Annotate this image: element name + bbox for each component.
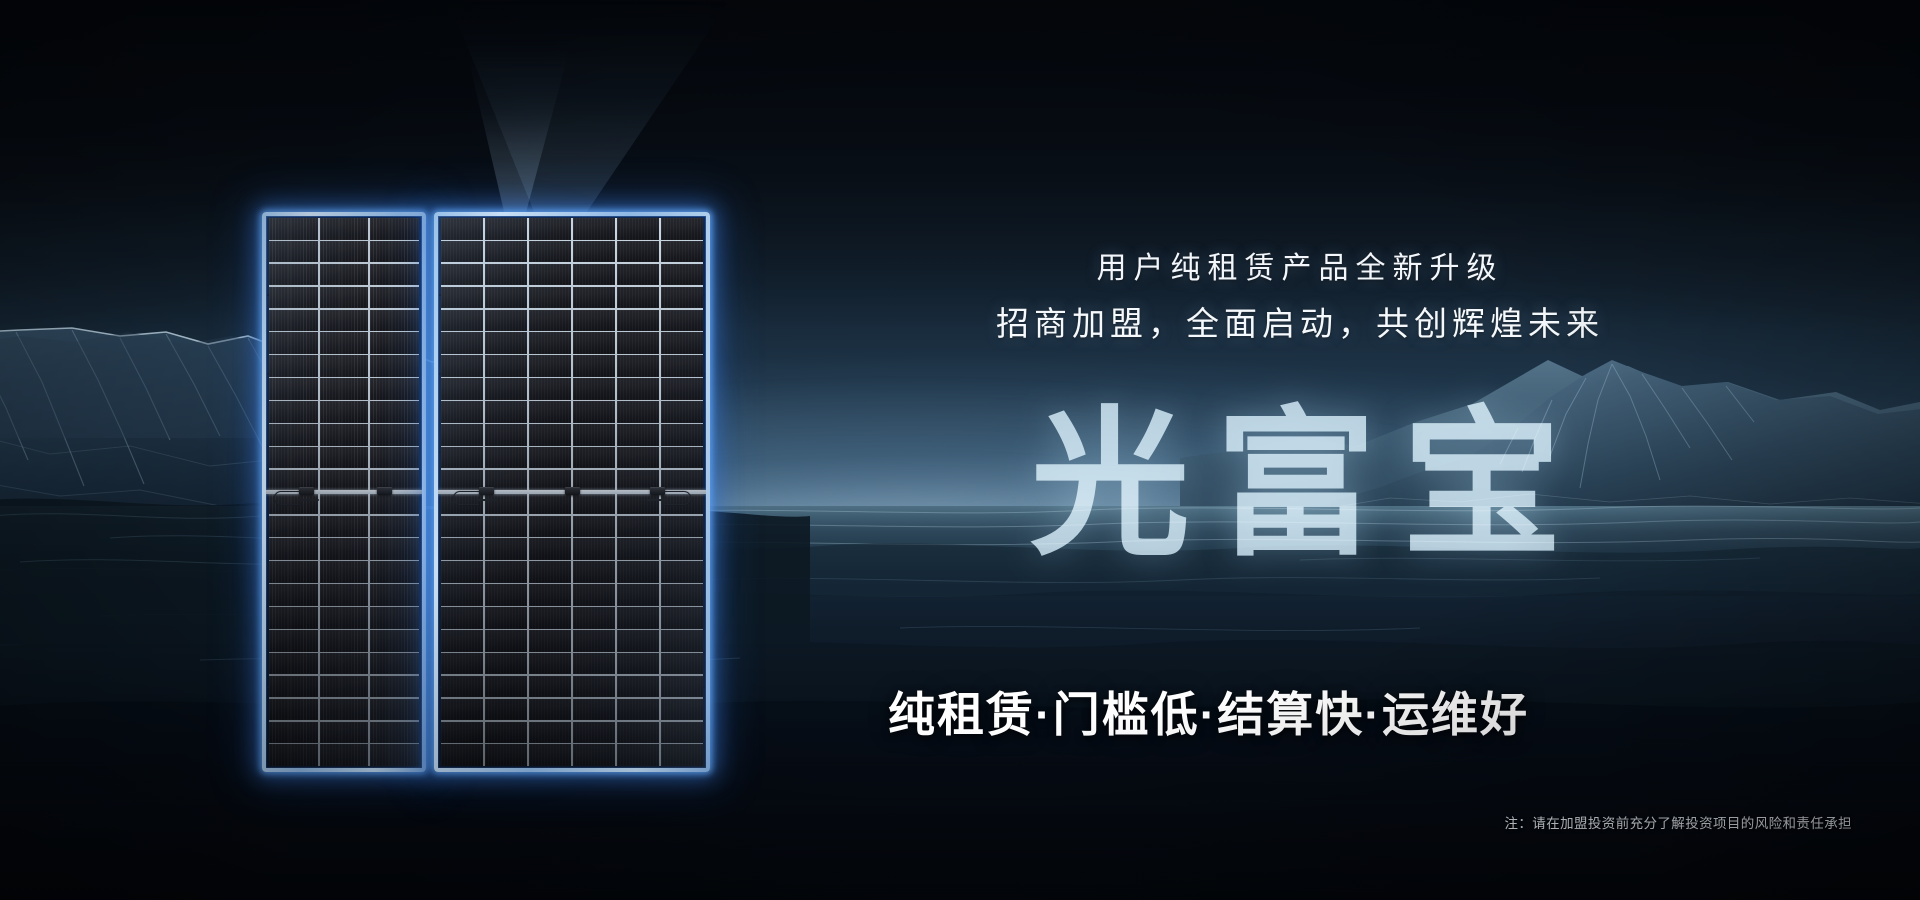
pv-cell — [269, 699, 318, 721]
pv-cell — [441, 355, 483, 377]
pv-cell — [269, 607, 318, 629]
cell-row — [441, 332, 703, 354]
pv-cell — [529, 355, 571, 377]
pv-cell — [320, 607, 369, 629]
pv-cell — [269, 401, 318, 423]
pv-cell — [485, 332, 527, 354]
pv-cell — [617, 722, 659, 744]
pv-cell — [617, 424, 659, 446]
pv-cell — [617, 653, 659, 675]
frame-screw — [419, 530, 421, 532]
pv-cell — [320, 561, 369, 583]
cell-row — [441, 378, 703, 400]
pv-cell — [529, 744, 571, 766]
cell-row — [441, 653, 703, 675]
panel-cable — [274, 491, 300, 505]
pv-cell — [441, 699, 483, 721]
pv-cell — [485, 310, 527, 332]
cell-row — [269, 538, 419, 560]
headline-line-2: 招商加盟，全面启动，共创辉煌未来 — [940, 306, 1660, 342]
pv-cell — [573, 676, 615, 698]
pv-cell — [617, 378, 659, 400]
pv-cell — [370, 401, 419, 423]
cell-row — [269, 607, 419, 629]
pv-cell — [617, 355, 659, 377]
pv-cell — [617, 447, 659, 469]
pv-cell — [617, 561, 659, 583]
pv-cell — [573, 310, 615, 332]
frame-screw — [419, 294, 421, 296]
frame-screw — [419, 686, 421, 688]
pv-cell — [370, 516, 419, 538]
pv-cell — [370, 355, 419, 377]
pv-cell — [485, 401, 527, 423]
pv-cell — [573, 653, 615, 675]
solar-module-right[interactable] — [434, 212, 710, 772]
pv-cell — [661, 401, 703, 423]
cell-row — [269, 264, 419, 286]
pv-cell — [529, 310, 571, 332]
pv-cell — [485, 287, 527, 309]
pv-cell — [617, 241, 659, 263]
cell-row — [269, 561, 419, 583]
pv-cell — [573, 538, 615, 560]
pv-cell — [529, 493, 571, 515]
cell-row — [269, 516, 419, 538]
pv-cell — [617, 310, 659, 332]
cell-row — [441, 516, 703, 538]
pv-cell — [370, 424, 419, 446]
pv-cell — [529, 287, 571, 309]
pv-cell — [485, 630, 527, 652]
pv-cell — [269, 355, 318, 377]
frame-screw — [703, 451, 705, 453]
pv-cell — [617, 287, 659, 309]
pv-cell — [320, 241, 369, 263]
pv-cell — [529, 447, 571, 469]
junction-box — [565, 487, 580, 495]
pv-cell — [485, 516, 527, 538]
pv-cell — [573, 355, 615, 377]
pv-cell — [320, 264, 369, 286]
pv-cell — [485, 264, 527, 286]
cell-row — [441, 676, 703, 698]
pv-cell — [617, 744, 659, 766]
pv-cell — [485, 699, 527, 721]
pv-cell — [370, 584, 419, 606]
pv-cell — [661, 241, 703, 263]
pv-cell — [529, 218, 571, 240]
cell-row — [269, 241, 419, 263]
cell-row — [441, 584, 703, 606]
pv-cell — [573, 493, 615, 515]
pv-cell — [320, 424, 369, 446]
pv-cell — [441, 584, 483, 606]
pv-cell — [441, 744, 483, 766]
pv-cell — [441, 447, 483, 469]
pv-cell — [441, 470, 483, 492]
solar-panel-assembly[interactable] — [262, 206, 710, 778]
pv-cell — [573, 287, 615, 309]
pv-cell — [529, 424, 571, 446]
pv-cell — [573, 630, 615, 652]
cell-row — [441, 401, 703, 423]
cell-row — [269, 653, 419, 675]
pv-cell — [370, 264, 419, 286]
pv-cell — [485, 355, 527, 377]
pv-cell — [617, 630, 659, 652]
frame-screw — [703, 373, 705, 375]
frame-screw — [419, 373, 421, 375]
pv-cell — [320, 699, 369, 721]
pv-cell — [617, 218, 659, 240]
frame-screw — [703, 608, 705, 610]
pv-cell — [485, 722, 527, 744]
pv-cell — [485, 493, 527, 515]
pv-cell — [661, 561, 703, 583]
pv-cell — [320, 493, 369, 515]
pv-cell — [617, 493, 659, 515]
pv-cell — [441, 607, 483, 629]
cell-row — [441, 699, 703, 721]
pv-cell — [485, 241, 527, 263]
pv-cell — [617, 516, 659, 538]
pv-cell — [320, 310, 369, 332]
pv-cell — [661, 630, 703, 652]
pv-cell — [529, 699, 571, 721]
pv-cell — [661, 287, 703, 309]
pv-cell — [441, 538, 483, 560]
cell-row — [269, 401, 419, 423]
pv-cell — [441, 310, 483, 332]
panel-cable-lead — [297, 499, 319, 501]
frame-screw — [703, 294, 705, 296]
pv-cell — [441, 264, 483, 286]
cell-row — [269, 424, 419, 446]
pv-cell — [320, 470, 369, 492]
cell-row — [269, 744, 419, 766]
pv-cell — [370, 630, 419, 652]
cell-row — [269, 447, 419, 469]
pv-cell — [529, 516, 571, 538]
cell-row — [441, 722, 703, 744]
cell-row — [269, 287, 419, 309]
frame-screw — [439, 530, 441, 532]
pv-cell — [617, 401, 659, 423]
pv-cell — [441, 287, 483, 309]
pv-cell — [370, 653, 419, 675]
pv-cell — [269, 378, 318, 400]
pv-cell — [320, 722, 369, 744]
pv-cell — [441, 653, 483, 675]
pv-cell — [320, 401, 369, 423]
pv-cell — [441, 561, 483, 583]
pv-cell — [441, 332, 483, 354]
pv-cell — [485, 676, 527, 698]
pv-cell — [485, 607, 527, 629]
frame-screw — [267, 373, 269, 375]
pv-cell — [573, 332, 615, 354]
pv-cell — [661, 447, 703, 469]
disclaimer-note: 注：请在加盟投资前充分了解投资项目的风险和责任承担 — [1505, 812, 1853, 832]
headline-line-1: 用户纯租赁产品全新升级 — [940, 252, 1660, 285]
junction-box — [377, 487, 392, 495]
pv-cell — [370, 722, 419, 744]
pv-cell — [573, 241, 615, 263]
pv-cell — [661, 744, 703, 766]
pv-cell — [617, 332, 659, 354]
pv-cell — [529, 630, 571, 652]
junction-box — [650, 487, 665, 495]
pv-cell — [269, 516, 318, 538]
pv-cell — [320, 447, 369, 469]
tagline: 纯租赁·门槛低·结算快·运维好 — [888, 676, 1529, 745]
pv-cell — [573, 561, 615, 583]
brand-name: 光富宝 — [1030, 405, 1588, 565]
cell-row — [269, 218, 419, 240]
headline-block: 用户纯租赁产品全新升级 招商加盟，全面启动，共创辉煌未来 — [940, 252, 1660, 342]
pv-cell — [485, 561, 527, 583]
pv-cell — [485, 378, 527, 400]
cell-row — [441, 630, 703, 652]
pv-cell — [485, 653, 527, 675]
pv-cell — [529, 561, 571, 583]
pv-cell — [485, 744, 527, 766]
pv-cell — [661, 470, 703, 492]
pv-cell — [441, 378, 483, 400]
pv-cell — [370, 561, 419, 583]
pv-cell — [661, 699, 703, 721]
pv-cell — [370, 493, 419, 515]
pv-cell — [529, 401, 571, 423]
cell-row — [441, 561, 703, 583]
pv-cell — [529, 264, 571, 286]
pv-cell — [661, 355, 703, 377]
pv-cell — [320, 630, 369, 652]
pv-cell — [269, 538, 318, 560]
cell-row — [269, 470, 419, 492]
pv-cell — [370, 310, 419, 332]
pv-cell — [617, 584, 659, 606]
pv-cell — [573, 264, 615, 286]
pv-cell — [370, 676, 419, 698]
pv-cell — [529, 538, 571, 560]
pv-cell — [269, 218, 318, 240]
pv-cell — [661, 538, 703, 560]
hero-banner: 用户纯租赁产品全新升级 招商加盟，全面启动，共创辉煌未来 光富宝 纯租赁·门槛低… — [0, 0, 1920, 900]
pv-cell — [573, 516, 615, 538]
pv-cell — [441, 516, 483, 538]
pv-cell — [661, 676, 703, 698]
pv-cell — [370, 607, 419, 629]
pv-cell — [661, 264, 703, 286]
pv-cell — [269, 744, 318, 766]
pv-cell — [529, 378, 571, 400]
pv-cell — [529, 722, 571, 744]
pv-cell — [269, 447, 318, 469]
frame-screw — [439, 608, 441, 610]
pv-cell — [529, 653, 571, 675]
frame-screw — [703, 686, 705, 688]
pv-cell — [529, 607, 571, 629]
pv-cell — [441, 424, 483, 446]
pv-cell — [485, 447, 527, 469]
pv-cell — [370, 241, 419, 263]
pv-cell — [269, 287, 318, 309]
frame-screw — [419, 451, 421, 453]
pv-cell — [485, 538, 527, 560]
pv-cell — [661, 310, 703, 332]
cell-row — [441, 744, 703, 766]
pv-cell — [573, 424, 615, 446]
pv-cell — [617, 538, 659, 560]
pv-cell — [573, 447, 615, 469]
pv-cell — [661, 424, 703, 446]
pv-cell — [320, 287, 369, 309]
panel-cable — [665, 491, 691, 505]
pv-cell — [269, 561, 318, 583]
cell-row — [269, 630, 419, 652]
pv-cell — [269, 584, 318, 606]
pv-cell — [661, 653, 703, 675]
pv-cell — [320, 378, 369, 400]
pv-cell — [370, 378, 419, 400]
cell-row — [269, 722, 419, 744]
pv-cell — [370, 699, 419, 721]
pv-cell — [269, 653, 318, 675]
pv-cell — [573, 218, 615, 240]
pv-cell — [573, 722, 615, 744]
pv-cell — [617, 699, 659, 721]
pv-cell — [617, 607, 659, 629]
cell-row — [441, 607, 703, 629]
panel-cable-lead — [476, 499, 498, 501]
cell-row — [441, 493, 703, 515]
cell-row — [269, 332, 419, 354]
pv-cell — [320, 744, 369, 766]
pv-cell — [370, 218, 419, 240]
frame-screw — [703, 530, 705, 532]
pv-cell — [370, 287, 419, 309]
pv-cell — [320, 218, 369, 240]
cell-row — [269, 355, 419, 377]
pv-cell — [529, 241, 571, 263]
pv-cell — [661, 584, 703, 606]
pv-cell — [529, 332, 571, 354]
pv-cell — [441, 218, 483, 240]
cell-row — [269, 676, 419, 698]
pv-cell — [320, 653, 369, 675]
panel-cable — [453, 491, 479, 505]
pv-cell — [485, 584, 527, 606]
pv-cell — [573, 401, 615, 423]
cell-row — [441, 447, 703, 469]
pv-cell — [269, 630, 318, 652]
pv-cell — [573, 744, 615, 766]
pv-cell — [661, 607, 703, 629]
cell-row — [441, 241, 703, 263]
pv-cell — [370, 744, 419, 766]
cell-row — [269, 378, 419, 400]
pv-cell — [320, 355, 369, 377]
cell-row — [269, 310, 419, 332]
pv-cell — [573, 607, 615, 629]
solar-module-right-glass — [438, 216, 706, 768]
pv-cell — [529, 676, 571, 698]
pv-cell — [441, 241, 483, 263]
pv-cell — [441, 630, 483, 652]
pv-cell — [441, 722, 483, 744]
cell-row — [269, 584, 419, 606]
cell-row — [441, 538, 703, 560]
cell-row — [441, 355, 703, 377]
pv-cell — [320, 584, 369, 606]
pv-cell — [529, 584, 571, 606]
pv-cell — [320, 516, 369, 538]
cell-row — [441, 424, 703, 446]
cell-row — [441, 264, 703, 286]
pv-cell — [573, 378, 615, 400]
pv-cell — [441, 676, 483, 698]
pv-cell — [661, 516, 703, 538]
pv-cell — [320, 332, 369, 354]
frame-screw — [439, 373, 441, 375]
frame-screw — [267, 530, 269, 532]
pv-cell — [370, 447, 419, 469]
pv-cell — [573, 584, 615, 606]
pv-cell — [320, 538, 369, 560]
pv-cell — [269, 424, 318, 446]
pv-cell — [661, 378, 703, 400]
pv-cell — [320, 676, 369, 698]
solar-module-left-glass — [266, 216, 422, 768]
frame-screw — [267, 608, 269, 610]
frame-screw — [419, 608, 421, 610]
cell-row — [441, 310, 703, 332]
pv-cell — [661, 332, 703, 354]
junction-box — [299, 487, 314, 495]
junction-box — [479, 487, 494, 495]
panel-cable-lead — [646, 499, 668, 501]
pv-cell — [617, 676, 659, 698]
pv-cell — [370, 332, 419, 354]
pv-cell — [269, 264, 318, 286]
pv-cell — [269, 722, 318, 744]
cell-row — [441, 218, 703, 240]
pv-cell — [661, 218, 703, 240]
pv-cell — [661, 722, 703, 744]
cell-row — [269, 699, 419, 721]
pv-cell — [441, 401, 483, 423]
cell-row — [441, 287, 703, 309]
pv-cell — [573, 699, 615, 721]
pv-cell — [370, 538, 419, 560]
solar-module-left[interactable] — [262, 212, 426, 772]
pv-cell — [269, 310, 318, 332]
pv-cell — [269, 241, 318, 263]
pv-cell — [269, 332, 318, 354]
pv-cell — [617, 264, 659, 286]
pv-cell — [269, 676, 318, 698]
pv-cell — [485, 218, 527, 240]
pv-cell — [485, 424, 527, 446]
